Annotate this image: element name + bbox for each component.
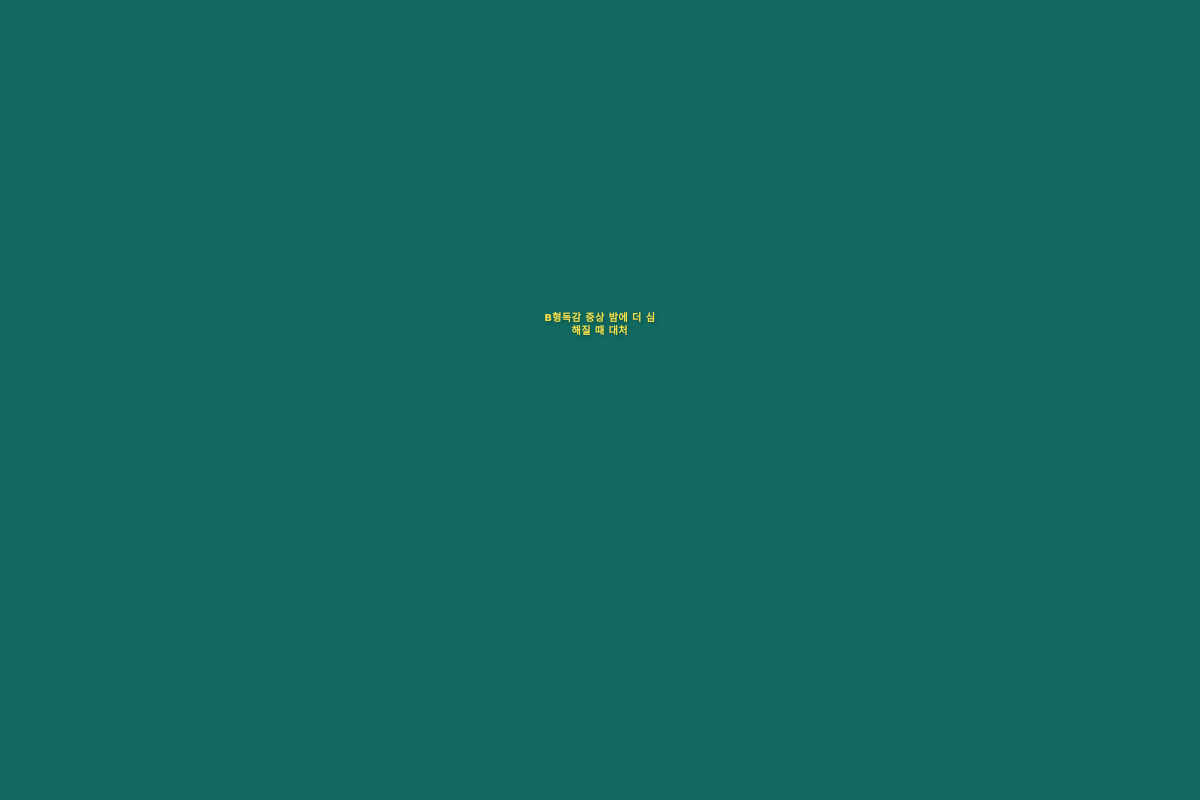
title-block: B형독감 증상 밤에 더 심 해질 때 대처 <box>0 313 1200 339</box>
title-line-2: 해질 때 대처 <box>40 326 1160 339</box>
title-line-1: B형독감 증상 밤에 더 심 <box>40 313 1160 326</box>
thumbnail-banner: B형독감 증상 밤에 더 심 해질 때 대처 <box>0 0 1200 800</box>
